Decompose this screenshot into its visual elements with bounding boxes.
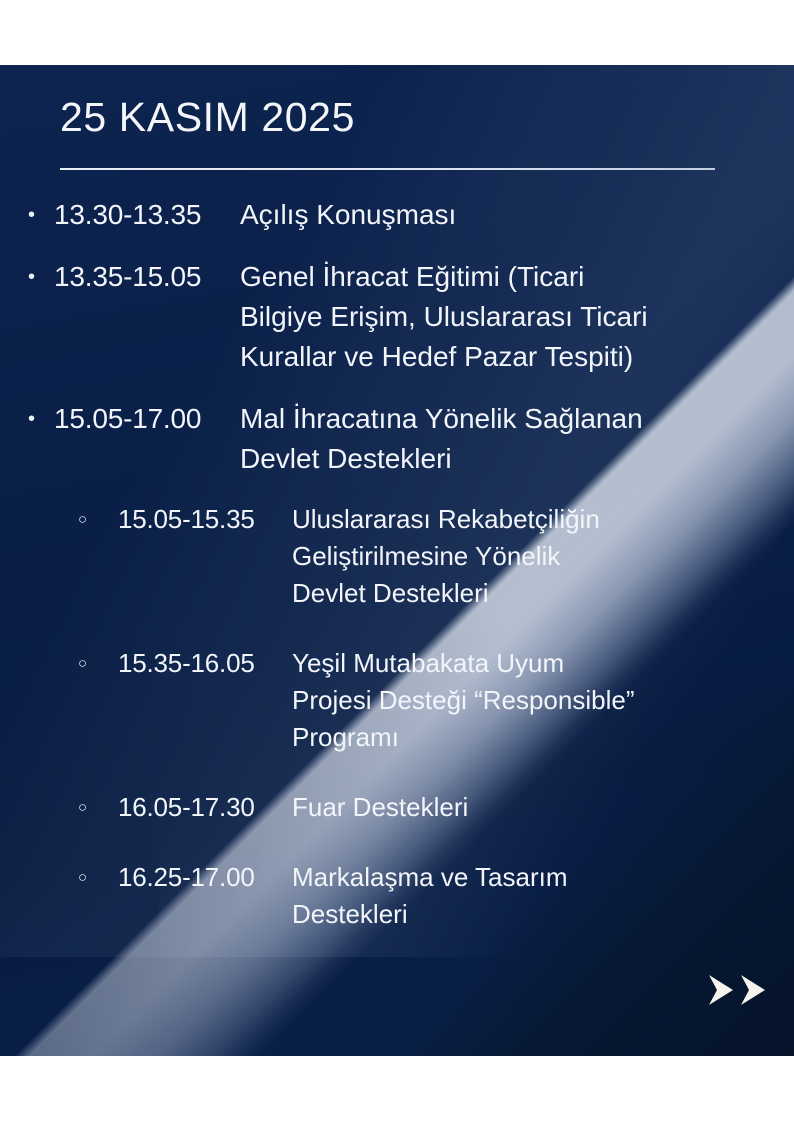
bullet-marker-icon: • [28, 195, 54, 235]
agenda-item-line: Genel İhracat Eğitimi (Ticari [240, 257, 794, 297]
agenda-item-line: Devlet Destekleri [240, 439, 794, 479]
agenda-item-line: Fuar Destekleri [292, 789, 794, 826]
agenda-item-line: Mal İhracatına Yönelik Sağlanan [240, 399, 794, 439]
agenda-item-time: 13.35-15.05 [54, 257, 236, 297]
slide-page: 25 KASIM 2025 •13.30-13.35Açılış Konuşma… [0, 0, 794, 1123]
agenda-item-time: 15.35-16.05 [118, 645, 290, 682]
agenda-item: ○15.35-16.05Yeşil Mutabakata UyumProjesi… [0, 645, 794, 756]
slide-title: 25 KASIM 2025 [60, 94, 355, 141]
subbullet-marker-icon: ○ [78, 859, 118, 896]
agenda-item-description: Yeşil Mutabakata UyumProjesi Desteği “Re… [290, 645, 794, 756]
agenda-item-description: Genel İhracat Eğitimi (TicariBilgiye Eri… [236, 257, 794, 377]
agenda-item-line: Uluslararası Rekabetçiliğin [292, 501, 794, 538]
agenda-item: ○16.05-17.30Fuar Destekleri [0, 789, 794, 826]
agenda-item-line: Yeşil Mutabakata Uyum [292, 645, 794, 682]
agenda-item-time: 16.05-17.30 [118, 789, 290, 826]
agenda-item-description: Uluslararası RekabetçiliğinGeliştirilmes… [290, 501, 794, 612]
agenda-list: •13.30-13.35Açılış Konuşması•13.35-15.05… [0, 195, 794, 966]
double-chevron-right-icon[interactable] [706, 972, 772, 1008]
subbullet-marker-icon: ○ [78, 645, 118, 682]
bullet-marker-icon: • [28, 399, 54, 439]
agenda-item-description: Fuar Destekleri [290, 789, 794, 826]
agenda-item-time: 15.05-15.35 [118, 501, 290, 538]
agenda-item-line: Açılış Konuşması [240, 195, 794, 235]
agenda-item-time: 13.30-13.35 [54, 195, 236, 235]
agenda-item-time: 16.25-17.00 [118, 859, 290, 896]
agenda-item-description: Açılış Konuşması [236, 195, 794, 235]
agenda-item: ○16.25-17.00Markalaşma ve TasarımDestekl… [0, 859, 794, 933]
slide-content: 25 KASIM 2025 •13.30-13.35Açılış Konuşma… [0, 65, 794, 1056]
subbullet-marker-icon: ○ [78, 789, 118, 826]
agenda-item-line: Projesi Desteği “Responsible” [292, 682, 794, 719]
agenda-item-line: Programı [292, 719, 794, 756]
agenda-item-description: Markalaşma ve TasarımDestekleri [290, 859, 794, 933]
agenda-item-line: Kurallar ve Hedef Pazar Tespiti) [240, 337, 794, 377]
agenda-item-description: Mal İhracatına Yönelik SağlananDevlet De… [236, 399, 794, 479]
agenda-item: •13.35-15.05Genel İhracat Eğitimi (Ticar… [0, 257, 794, 377]
bullet-marker-icon: • [28, 257, 54, 297]
subbullet-marker-icon: ○ [78, 501, 118, 538]
agenda-item-time: 15.05-17.00 [54, 399, 236, 439]
agenda-item: ○15.05-15.35Uluslararası RekabetçiliğinG… [0, 501, 794, 612]
title-underline [60, 168, 715, 170]
agenda-item: •15.05-17.00Mal İhracatına Yönelik Sağla… [0, 399, 794, 479]
agenda-item-line: Markalaşma ve Tasarım [292, 859, 794, 896]
agenda-item-line: Bilgiye Erişim, Uluslararası Ticari [240, 297, 794, 337]
agenda-item: •13.30-13.35Açılış Konuşması [0, 195, 794, 235]
agenda-item-line: Devlet Destekleri [292, 575, 794, 612]
agenda-item-line: Destekleri [292, 896, 794, 933]
slide-canvas: 25 KASIM 2025 •13.30-13.35Açılış Konuşma… [0, 65, 794, 1056]
agenda-item-line: Geliştirilmesine Yönelik [292, 538, 794, 575]
